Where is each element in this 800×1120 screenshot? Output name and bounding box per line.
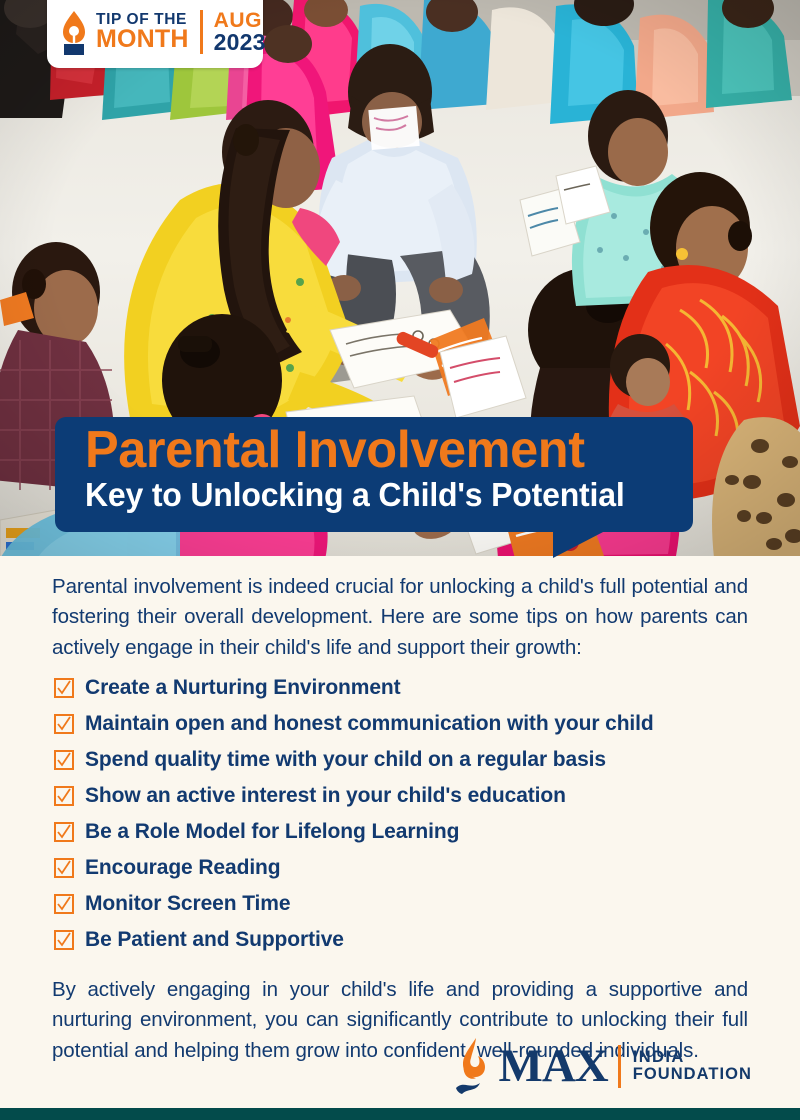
- speech-bubble-tail: [553, 531, 605, 558]
- logo-wordmark: MAX: [498, 1043, 607, 1090]
- tip-of-the-month-badge: TIP OF THE MONTH AUG 2023: [47, 0, 263, 68]
- logo-line-foundation: FOUNDATION: [633, 1066, 752, 1083]
- badge-year: 2023: [214, 31, 266, 54]
- list-item: Monitor Screen Time: [54, 889, 748, 921]
- poster: TIP OF THE MONTH AUG 2023 Parental Invol…: [0, 0, 800, 1120]
- checkbox-checked-icon[interactable]: [54, 894, 74, 914]
- flame-icon: [454, 1036, 498, 1098]
- tips-checklist: Create a Nurturing Environment Maintain …: [54, 673, 748, 957]
- badge-tip-line2: MONTH: [96, 27, 189, 52]
- list-item: Show an active interest in your child's …: [54, 781, 748, 813]
- footer-bar: [0, 1108, 800, 1120]
- poster-subtitle: Key to Unlocking a Child's Potential: [85, 478, 675, 513]
- badge-divider: [200, 10, 203, 54]
- list-item-label: Show an active interest in your child's …: [85, 781, 566, 811]
- list-item-label: Be Patient and Supportive: [85, 925, 344, 955]
- list-item: Create a Nurturing Environment: [54, 673, 748, 705]
- list-item-label: Be a Role Model for Lifelong Learning: [85, 817, 459, 847]
- checkbox-checked-icon[interactable]: [54, 822, 74, 842]
- list-item: Maintain open and honest communication w…: [54, 709, 748, 741]
- list-item-label: Create a Nurturing Environment: [85, 673, 401, 703]
- list-item: Be Patient and Supportive: [54, 925, 748, 957]
- list-item-label: Spend quality time with your child on a …: [85, 745, 606, 775]
- max-india-foundation-logo: MAX INDIA FOUNDATION: [454, 1036, 752, 1098]
- list-item-label: Encourage Reading: [85, 853, 281, 883]
- intro-paragraph: Parental involvement is indeed crucial f…: [52, 572, 748, 663]
- list-item-label: Monitor Screen Time: [85, 889, 290, 919]
- badge-month: AUG: [214, 10, 266, 31]
- checkbox-checked-icon[interactable]: [54, 714, 74, 734]
- content-area: Parental involvement is indeed crucial f…: [0, 556, 800, 1108]
- list-item: Spend quality time with your child on a …: [54, 745, 748, 777]
- checkbox-checked-icon[interactable]: [54, 858, 74, 878]
- list-item: Be a Role Model for Lifelong Learning: [54, 817, 748, 849]
- logo-line-india: INDIA: [633, 1049, 752, 1066]
- checkbox-checked-icon[interactable]: [54, 678, 74, 698]
- poster-title: Parental Involvement: [85, 424, 675, 477]
- checkbox-checked-icon[interactable]: [54, 750, 74, 770]
- list-item-label: Maintain open and honest communication w…: [85, 709, 654, 739]
- logo-divider: [618, 1045, 621, 1088]
- checkbox-checked-icon[interactable]: [54, 930, 74, 950]
- title-banner: Parental Involvement Key to Unlocking a …: [55, 417, 693, 532]
- list-item: Encourage Reading: [54, 853, 748, 885]
- pen-nib-icon: [61, 11, 87, 55]
- checkbox-checked-icon[interactable]: [54, 786, 74, 806]
